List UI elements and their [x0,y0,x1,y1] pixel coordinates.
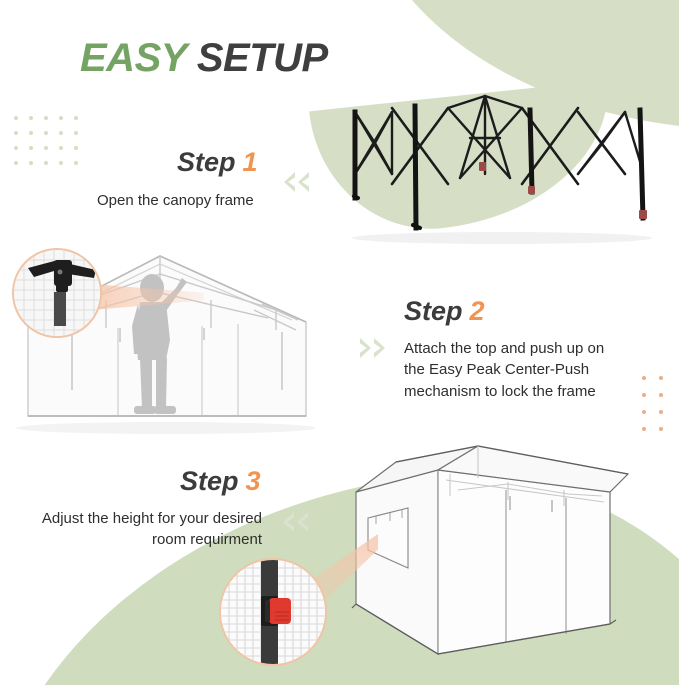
step-2-label: Step [404,296,463,326]
step-3-heading: Step3 [180,466,261,497]
page-title: EASY SETUP [80,36,328,81]
step-1-label: Step [177,147,236,177]
chevron-double-left-icon [283,512,308,532]
step-3-description: Adjust the height for your desired room … [14,508,262,551]
step-1-description: Open the canopy frame [97,190,254,211]
step-1-number: 1 [243,147,258,177]
step-1-heading: Step1 [177,147,258,178]
dot-grid-left [14,116,78,165]
greenhouse-3d-view [338,444,668,679]
dot-grid-right [642,376,663,431]
step-2-heading: Step2 [404,296,485,327]
center-push-mechanism-detail [12,248,102,338]
page-title-word-setup: SETUP [197,36,328,80]
step-3-number: 3 [246,466,261,496]
step-3-label: Step [180,466,239,496]
step-2-description: Attach the top and push up on the Easy P… [404,338,640,402]
chevron-double-right-icon [360,338,385,358]
easy-setup-infographic: EASY SETUP Step1 Open the canopy frame [0,0,679,685]
height-adjust-lever-detail [219,558,327,666]
step-2-number: 2 [470,296,485,326]
page-title-word-easy: EASY [80,36,186,80]
canopy-frame-illustration [330,88,675,248]
chevron-double-left-icon [284,172,309,192]
